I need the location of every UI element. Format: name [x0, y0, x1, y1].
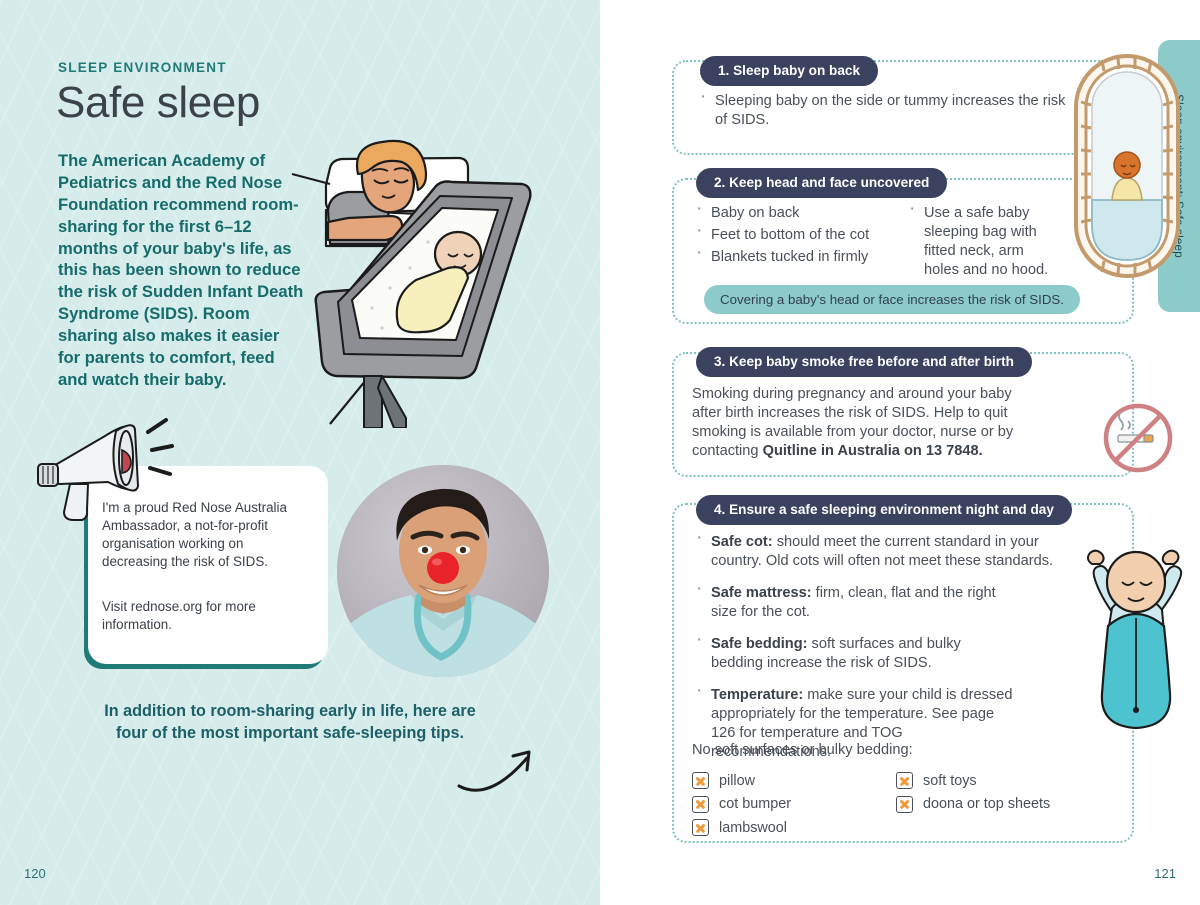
bullet-lead: Safe cot: — [711, 534, 773, 550]
section-2-bullets-left: Baby on back Feet to bottom of the cot B… — [692, 204, 908, 267]
checklist-item[interactable]: soft toys — [896, 772, 1050, 789]
list-item: Use a safe baby sleeping bag with fitted… — [905, 204, 1055, 280]
list-item: Safe cot: should meet the current standa… — [692, 533, 1062, 571]
cross-box-icon — [692, 819, 709, 836]
left-page: SLEEP ENVIRONMENT Safe sleep The America… — [0, 0, 600, 905]
parent-sleeping-beside-bassinet-illustration — [290, 118, 590, 428]
checklist-item[interactable]: doona or top sheets — [896, 796, 1050, 813]
section-2-bullets-right: Use a safe baby sleeping bag with fitted… — [905, 204, 1055, 280]
closing-line-1: In addition to room-sharing early in lif… — [104, 702, 475, 720]
megaphone-icon — [30, 398, 175, 523]
closing-callout: In addition to room-sharing early in lif… — [60, 700, 520, 745]
bullet-lead: Temperature: — [711, 687, 803, 703]
checklist-item[interactable]: pillow — [692, 772, 791, 789]
list-item: Sleeping baby on the side or tummy incre… — [696, 92, 1076, 130]
bullet-lead: Safe bedding: — [711, 636, 807, 652]
section-2-heading: 2. Keep head and face uncovered — [696, 168, 947, 198]
page-number-right: 121 — [1154, 866, 1176, 881]
section-3-heading: 3. Keep baby smoke free before and after… — [696, 347, 1032, 377]
section-3-body: Smoking during pregnancy and around your… — [692, 385, 1042, 461]
book-spread: SLEEP ENVIRONMENT Safe sleep The America… — [0, 0, 1200, 905]
list-item: Feet to bottom of the cot — [692, 226, 908, 245]
checklist-label: pillow — [719, 773, 755, 789]
section-4-heading: 4. Ensure a safe sleeping environment ni… — [696, 495, 1072, 525]
checklist-right-column: soft toys doona or top sheets — [896, 772, 1050, 819]
list-item: Baby on back — [692, 204, 908, 223]
cross-box-icon — [896, 772, 913, 789]
section-eyebrow: SLEEP ENVIRONMENT — [58, 60, 227, 75]
intro-paragraph: The American Academy of Pediatrics and t… — [58, 150, 306, 391]
bullet-lead: Safe mattress: — [711, 585, 812, 601]
closing-line-2: four of the most important safe-sleeping… — [116, 724, 464, 742]
no-smoking-icon — [1098, 398, 1178, 478]
section-2-highlight: Covering a baby's head or face increases… — [704, 285, 1080, 314]
cross-box-icon — [692, 796, 709, 813]
list-item: Safe mattress: firm, clean, flat and the… — [692, 584, 1022, 622]
checklist-label: lambswool — [719, 820, 787, 836]
checklist-item[interactable]: lambswool — [692, 819, 791, 836]
section-1-bullets: Sleeping baby on the side or tummy incre… — [696, 92, 1076, 130]
section-1-heading: 1. Sleep baby on back — [700, 56, 878, 86]
ambassador-portrait-photo — [337, 465, 549, 677]
cross-box-icon — [896, 796, 913, 813]
curved-arrow-icon — [455, 740, 555, 800]
section-4-list: Safe cot: should meet the current standa… — [692, 533, 1062, 762]
page-number-left: 120 — [24, 866, 46, 881]
list-item: Safe bedding: soft surfaces and bulky be… — [692, 635, 1014, 673]
list-item: Blankets tucked in firmly — [692, 248, 908, 267]
baby-in-sleeping-bag-illustration — [1074, 548, 1194, 740]
section-2-body-right: Use a safe baby sleeping bag with fitted… — [905, 204, 1055, 283]
section-1-body: Sleeping baby on the side or tummy incre… — [696, 92, 1076, 133]
cross-box-icon — [692, 772, 709, 789]
section-2-body-left: Baby on back Feet to bottom of the cot B… — [692, 204, 908, 270]
right-page: Sleep environment: Safe sleep 1. Sleep b… — [600, 0, 1200, 905]
page-title: Safe sleep — [56, 78, 260, 128]
checklist-label: soft toys — [923, 773, 977, 789]
checklist-left-column: pillow cot bumper lambswool — [692, 772, 791, 843]
quote-paragraph-2: Visit rednose.org for more information. — [102, 598, 302, 634]
checklist-label: cot bumper — [719, 796, 791, 812]
no-soft-surfaces-label: No soft surfaces or bulky bedding: — [692, 742, 913, 758]
section-3-bold-text: Quitline in Australia on 13 7848. — [763, 443, 983, 459]
checklist-label: doona or top sheets — [923, 796, 1050, 812]
section-4-bullets: Safe cot: should meet the current standa… — [692, 533, 1062, 770]
oval-cot-with-baby-illustration — [1072, 52, 1182, 280]
checklist-item[interactable]: cot bumper — [692, 796, 791, 813]
